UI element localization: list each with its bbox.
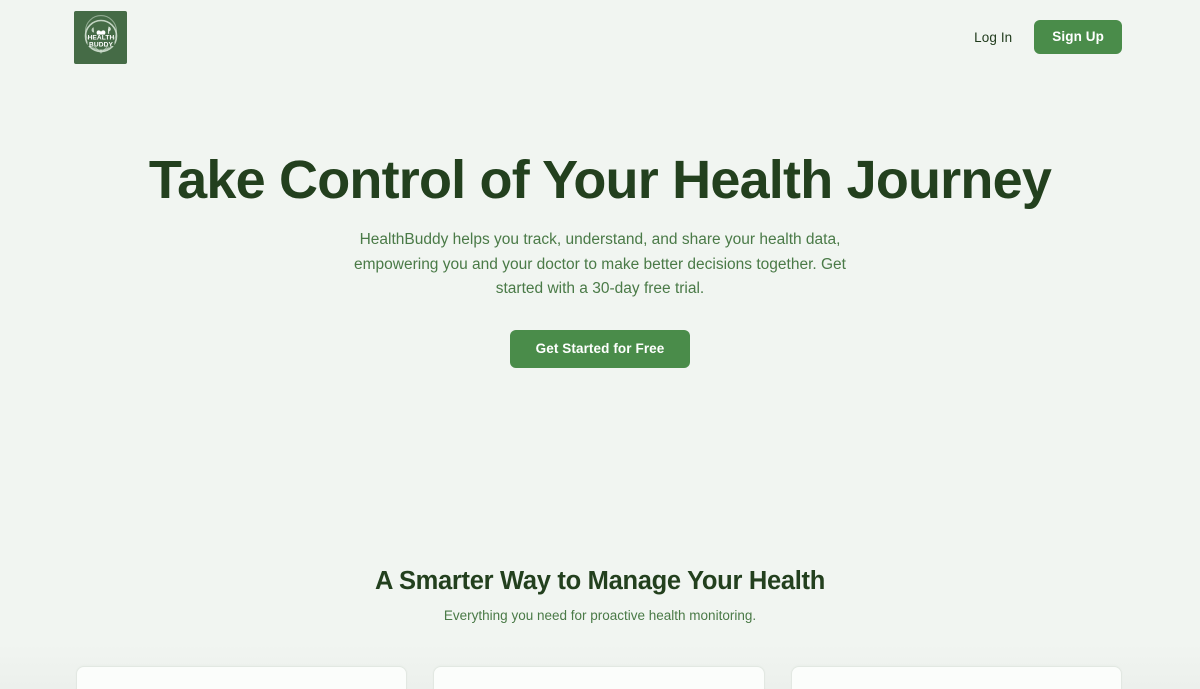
feature-card-list: [76, 666, 1122, 689]
features-header: A Smarter Way to Manage Your Health Ever…: [0, 528, 1200, 625]
features-subtitle: Everything you need for proactive health…: [0, 607, 1200, 626]
hero-title: Take Control of Your Health Journey: [0, 150, 1200, 210]
get-started-button[interactable]: Get Started for Free: [510, 330, 691, 368]
feature-card-inner: [434, 667, 763, 689]
feature-card-inner: [77, 667, 406, 689]
features-title: A Smarter Way to Manage Your Health: [0, 566, 1200, 597]
features-section: A Smarter Way to Manage Your Health Ever…: [0, 528, 1200, 689]
hero-subtitle: HealthBuddy helps you track, understand,…: [340, 228, 860, 301]
healthbuddy-logo-icon: HEALTH BUDDY: [74, 11, 127, 64]
feature-card[interactable]: [791, 666, 1122, 689]
header-actions: Log In Sign Up: [970, 20, 1122, 54]
page-viewport: HEALTH BUDDY Log In Sign Up Take Control…: [0, 0, 1200, 689]
login-link[interactable]: Log In: [970, 24, 1016, 51]
site-header: HEALTH BUDDY Log In Sign Up: [0, 0, 1200, 74]
hero-section: Take Control of Your Health Journey Heal…: [0, 150, 1200, 368]
logo-text-line1: HEALTH: [87, 34, 114, 41]
signup-button[interactable]: Sign Up: [1034, 20, 1122, 54]
feature-card[interactable]: [433, 666, 764, 689]
hero-cta-wrapper: Get Started for Free: [0, 330, 1200, 368]
feature-card-inner: [792, 667, 1121, 689]
brand-logo-link[interactable]: HEALTH BUDDY: [74, 11, 127, 64]
feature-card[interactable]: [76, 666, 407, 689]
